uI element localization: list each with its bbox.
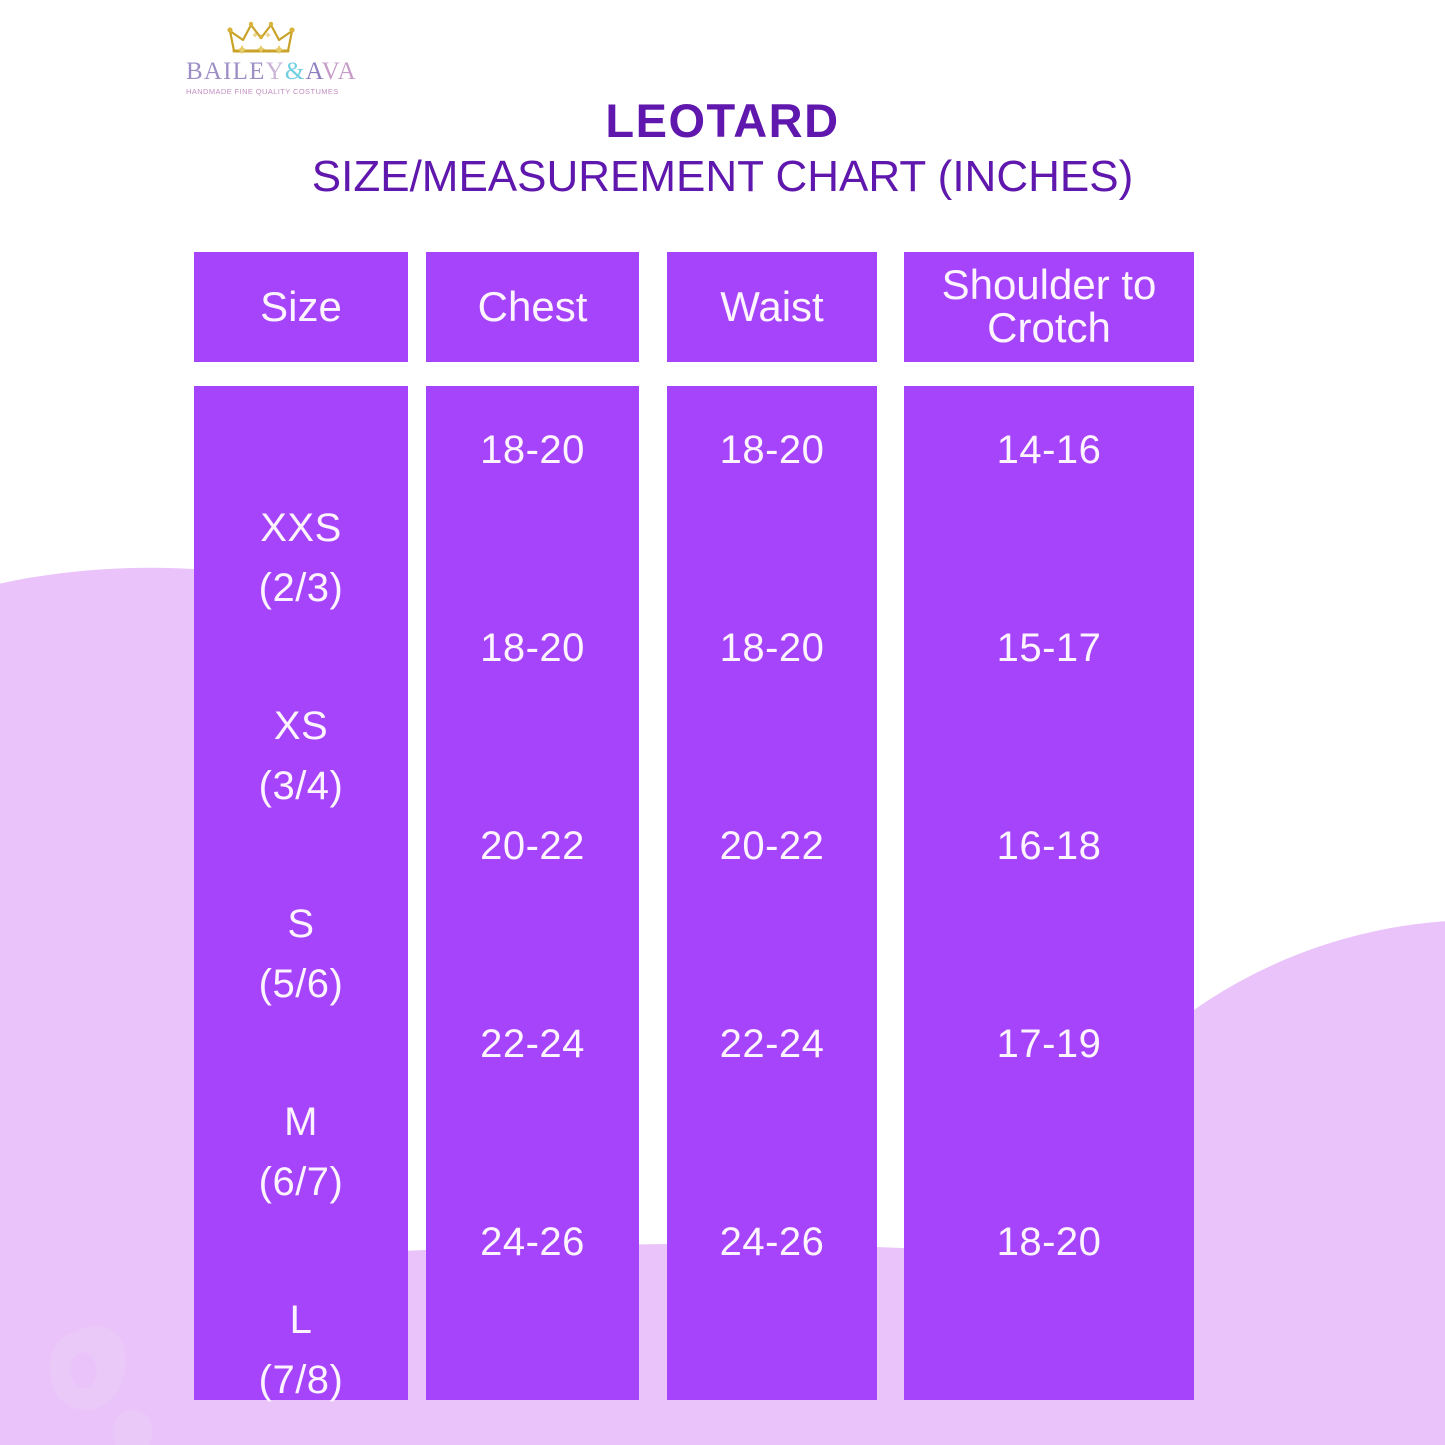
table-cell-size-4: L (7/8) [194, 1300, 408, 1400]
column-header-chest: Chest [426, 252, 639, 362]
table-column-shoulder-to-crotch: Shoulder to Crotch 14-16 15-17 16-18 17-… [904, 252, 1194, 1400]
table-cell-waist-2: 20-22 [667, 826, 877, 866]
table-cell-chest-4: 24-26 [426, 1222, 639, 1262]
column-header-chest-label: Chest [472, 286, 594, 329]
table-cell-chest-0: 18-20 [426, 430, 639, 470]
size-ages-3: (6/7) [194, 1162, 408, 1202]
table-column-chest: Chest 18-20 18-20 20-22 22-24 24-26 [426, 252, 639, 1400]
column-header-size-label: Size [254, 286, 348, 329]
table-cell-stc-3: 17-19 [904, 1024, 1194, 1064]
brand-name: BAILEY&AVA [186, 59, 336, 84]
size-ages-1: (3/4) [194, 766, 408, 806]
crown-icon [224, 18, 298, 58]
size-label-2: S [194, 904, 408, 944]
size-chart-page: BAILEY&AVA HANDMADE FINE QUALITY COSTUME… [0, 0, 1445, 1445]
table-cell-size-2: S (5/6) [194, 904, 408, 1004]
column-header-waist: Waist [667, 252, 877, 362]
table-cell-stc-2: 16-18 [904, 826, 1194, 866]
table-cell-stc-1: 15-17 [904, 628, 1194, 668]
size-label-3: M [194, 1102, 408, 1142]
brand-logo: BAILEY&AVA HANDMADE FINE QUALITY COSTUME… [186, 18, 336, 100]
table-column-waist: Waist 18-20 18-20 20-22 22-24 24-26 [667, 252, 877, 1400]
size-ages-4: (7/8) [194, 1360, 408, 1400]
table-cell-waist-4: 24-26 [667, 1222, 877, 1262]
size-label-1: XS [194, 706, 408, 746]
table-cell-waist-3: 22-24 [667, 1024, 877, 1064]
page-subtitle: SIZE/MEASUREMENT CHART (INCHES) [0, 152, 1445, 202]
size-ages-2: (5/6) [194, 964, 408, 1004]
column-body-waist: 18-20 18-20 20-22 22-24 24-26 [667, 386, 877, 1400]
column-body-chest: 18-20 18-20 20-22 22-24 24-26 [426, 386, 639, 1400]
table-cell-stc-0: 14-16 [904, 430, 1194, 470]
column-header-shoulder-to-crotch-label: Shoulder to Crotch [904, 264, 1194, 350]
decor-teardrop-accent [113, 1409, 153, 1445]
table-cell-chest-1: 18-20 [426, 628, 639, 668]
column-header-size: Size [194, 252, 408, 362]
table-column-size: Size XXS (2/3) XS (3/4) S (5/6) M (6/7) [194, 252, 408, 1400]
table-cell-size-3: M (6/7) [194, 1102, 408, 1202]
table-cell-waist-0: 18-20 [667, 430, 877, 470]
size-label-4: L [194, 1300, 408, 1340]
column-body-size: XXS (2/3) XS (3/4) S (5/6) M (6/7) L ( [194, 386, 408, 1400]
size-measurement-table: Size XXS (2/3) XS (3/4) S (5/6) M (6/7) [194, 252, 1194, 1400]
size-ages-0: (2/3) [194, 568, 408, 608]
column-header-waist-label: Waist [714, 286, 829, 329]
table-cell-chest-2: 20-22 [426, 826, 639, 866]
column-header-shoulder-to-crotch: Shoulder to Crotch [904, 252, 1194, 362]
size-label-0: XXS [194, 508, 408, 548]
page-title: LEOTARD [0, 93, 1445, 148]
table-cell-chest-3: 22-24 [426, 1024, 639, 1064]
table-cell-stc-4: 18-20 [904, 1222, 1194, 1262]
table-cell-waist-1: 18-20 [667, 628, 877, 668]
table-cell-size-0: XXS (2/3) [194, 508, 408, 608]
table-cell-size-1: XS (3/4) [194, 706, 408, 806]
decor-ring-accent [50, 1326, 126, 1410]
column-body-shoulder-to-crotch: 14-16 15-17 16-18 17-19 18-20 [904, 386, 1194, 1400]
